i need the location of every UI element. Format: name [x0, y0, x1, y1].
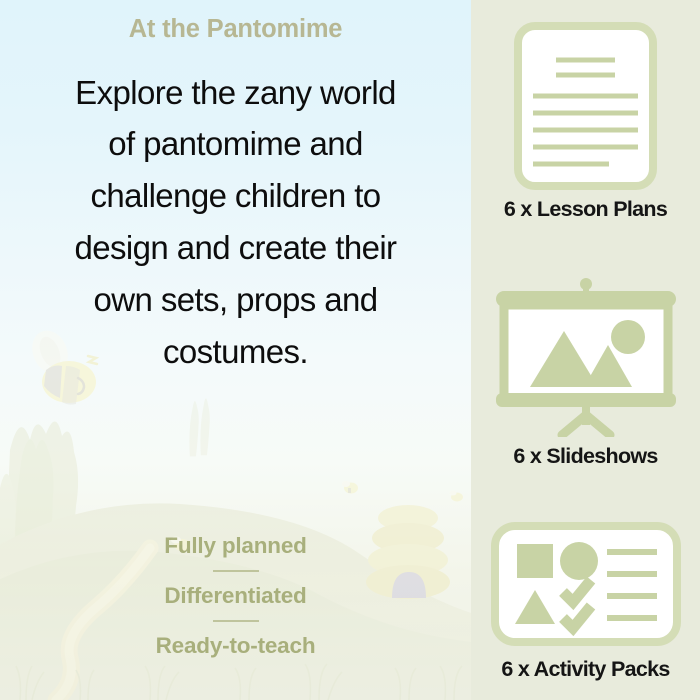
resource-caption: 6 x Slideshows — [513, 444, 657, 469]
feature-fully-planned: Fully planned — [164, 532, 306, 560]
document-icon — [514, 22, 657, 190]
description-line: of pantomime and — [26, 118, 446, 170]
projector-screen-icon — [492, 275, 680, 437]
resource-poster: At the Pantomime Explore the zany world … — [0, 0, 700, 700]
description-line: own sets, props and — [26, 274, 446, 326]
feature-divider — [213, 620, 259, 622]
resource-lesson-plans: 6 x Lesson Plans — [504, 22, 667, 222]
feature-differentiated: Differentiated — [164, 582, 306, 610]
description-line: costumes. — [26, 326, 446, 378]
description-line: design and create their — [26, 222, 446, 274]
resource-caption: 6 x Lesson Plans — [504, 197, 667, 222]
description-line: challenge children to — [26, 170, 446, 222]
resource-activity-packs: 6 x Activity Packs — [491, 522, 681, 682]
resource-caption: 6 x Activity Packs — [501, 657, 669, 682]
feature-divider — [213, 570, 259, 572]
activity-pack-icon — [491, 522, 681, 650]
feature-list: Fully planned Differentiated Ready-to-te… — [0, 532, 471, 660]
page-title: At the Pantomime — [129, 14, 343, 45]
description-line: Explore the zany world — [26, 67, 446, 119]
description-text: Explore the zany world of pantomime and … — [26, 67, 446, 378]
feature-ready-to-teach: Ready-to-teach — [156, 632, 316, 660]
left-panel: At the Pantomime Explore the zany world … — [0, 0, 471, 700]
resource-slideshows: 6 x Slideshows — [492, 275, 680, 469]
right-panel: 6 x Lesson Plans — [471, 0, 700, 700]
